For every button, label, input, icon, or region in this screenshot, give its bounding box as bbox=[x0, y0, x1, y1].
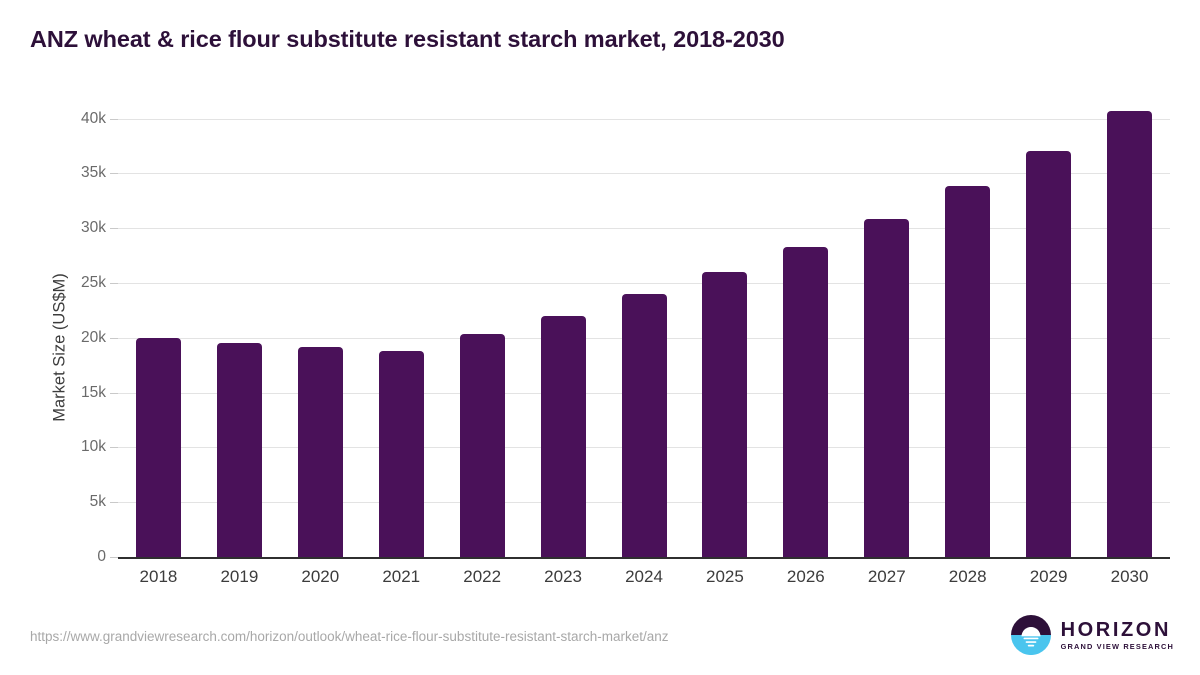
x-tick-label-2021: 2021 bbox=[361, 567, 442, 587]
x-tick-label-2023: 2023 bbox=[523, 567, 604, 587]
plot-area: Market Size (US$M) 05k10k15k20k25k30k35k… bbox=[0, 0, 1200, 675]
x-tick-label-2024: 2024 bbox=[604, 567, 685, 587]
source-url[interactable]: https://www.grandviewresearch.com/horizo… bbox=[30, 629, 669, 644]
horizon-logo-tagline: GRAND VIEW RESEARCH bbox=[1061, 643, 1174, 650]
x-tick-label-2025: 2025 bbox=[684, 567, 765, 587]
x-tick-label-2019: 2019 bbox=[199, 567, 280, 587]
x-tick-label-2029: 2029 bbox=[1008, 567, 1089, 587]
x-tick-label-2028: 2028 bbox=[927, 567, 1008, 587]
x-tick-label-2022: 2022 bbox=[442, 567, 523, 587]
horizon-logo-text: HORIZON GRAND VIEW RESEARCH bbox=[1061, 620, 1174, 650]
x-tick-label-2018: 2018 bbox=[118, 567, 199, 587]
x-tick-label-2030: 2030 bbox=[1089, 567, 1170, 587]
x-tick-label-2027: 2027 bbox=[846, 567, 927, 587]
horizon-logo-icon bbox=[1010, 614, 1052, 656]
x-tick-label-2020: 2020 bbox=[280, 567, 361, 587]
horizon-logo: HORIZON GRAND VIEW RESEARCH bbox=[1010, 614, 1174, 656]
x-axis-line bbox=[118, 557, 1170, 559]
chart-canvas: ANZ wheat & rice flour substitute resist… bbox=[0, 0, 1200, 675]
x-axis-ticks: 2018201920202021202220232024202520262027… bbox=[0, 0, 1200, 675]
horizon-logo-name: HORIZON bbox=[1061, 620, 1174, 640]
x-tick-label-2026: 2026 bbox=[765, 567, 846, 587]
